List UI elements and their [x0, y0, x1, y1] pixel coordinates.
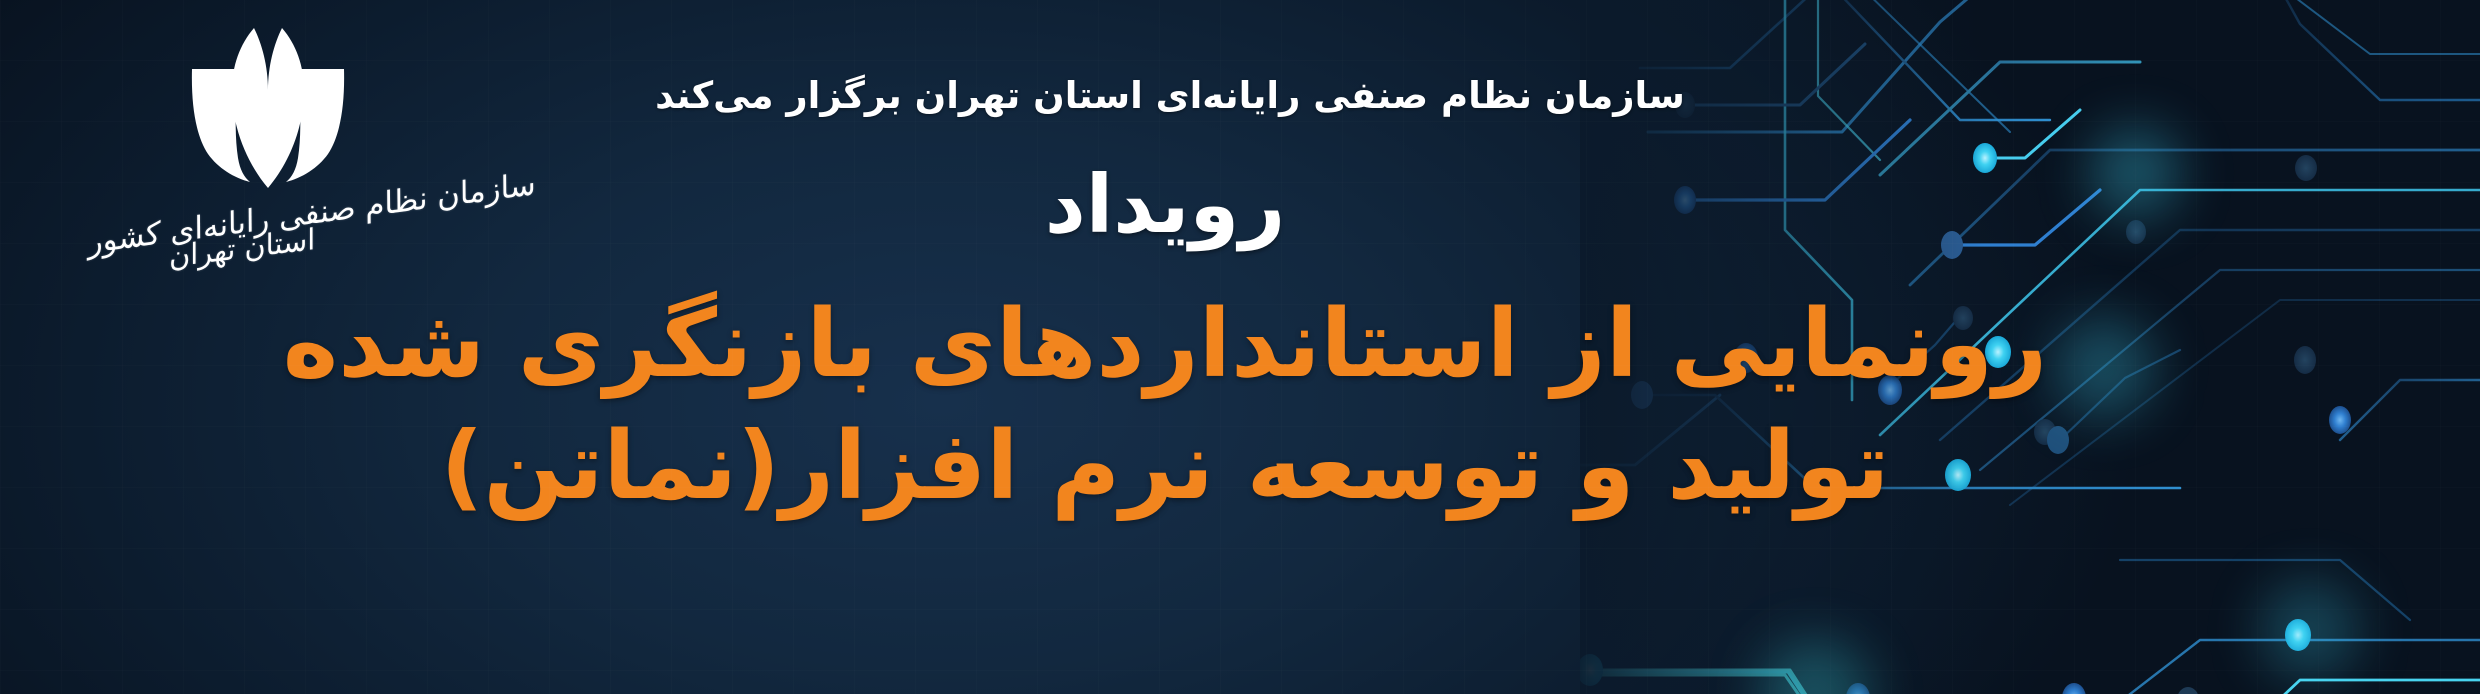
event-banner: سازمان نظام صنفی رایانه‌ای کشور استان ته… — [0, 0, 2480, 694]
headline-line-2: تولید و توسعه نرم افزار(نماتن) — [0, 412, 2480, 521]
event-label: رویداد — [0, 158, 2480, 251]
organizer-kicker-text: سازمان نظام صنفی رایانه‌ای استان تهران ب… — [0, 74, 2480, 117]
headline-line-1: رونمایی از استانداردهای بازنگری شده — [0, 290, 2480, 399]
banner-text-block: سازمان نظام صنفی رایانه‌ای استان تهران ب… — [0, 0, 2480, 694]
